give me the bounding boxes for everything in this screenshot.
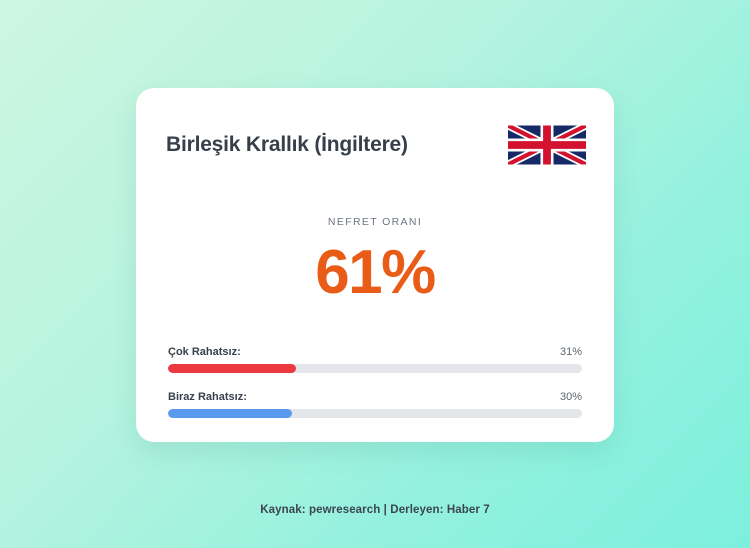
headline-metric: NEFRET ORANI 61% (136, 216, 614, 304)
bar-row: Biraz Rahatsız: 30% (168, 391, 582, 418)
bar-header: Çok Rahatsız: 31% (168, 346, 582, 358)
bar-fill (168, 409, 292, 418)
metric-value: 61% (136, 242, 614, 304)
page-title: Birleşik Krallık (İngiltere) (166, 132, 408, 157)
bar-row: Çok Rahatsız: 31% (168, 346, 582, 373)
united-kingdom-flag-icon (508, 120, 586, 170)
bar-fill (168, 364, 296, 373)
bar-track (168, 409, 582, 418)
bar-label: Çok Rahatsız: (168, 346, 241, 358)
card-header: Birleşik Krallık (İngiltere) (166, 110, 586, 180)
bar-header: Biraz Rahatsız: 30% (168, 391, 582, 403)
bar-value-label: 31% (560, 346, 582, 358)
bar-value-label: 30% (560, 391, 582, 403)
breakdown-bars: Çok Rahatsız: 31% Biraz Rahatsız: 30% (168, 346, 582, 418)
country-stat-card: Birleşik Krallık (İngiltere) NEFRET ORAN… (136, 88, 614, 442)
source-credit: Kaynak: pewresearch | Derleyen: Haber 7 (0, 504, 750, 516)
metric-label: NEFRET ORANI (136, 216, 614, 228)
bar-label: Biraz Rahatsız: (168, 391, 247, 403)
infographic-canvas: Birleşik Krallık (İngiltere) NEFRET ORAN… (0, 0, 750, 548)
bar-track (168, 364, 582, 373)
